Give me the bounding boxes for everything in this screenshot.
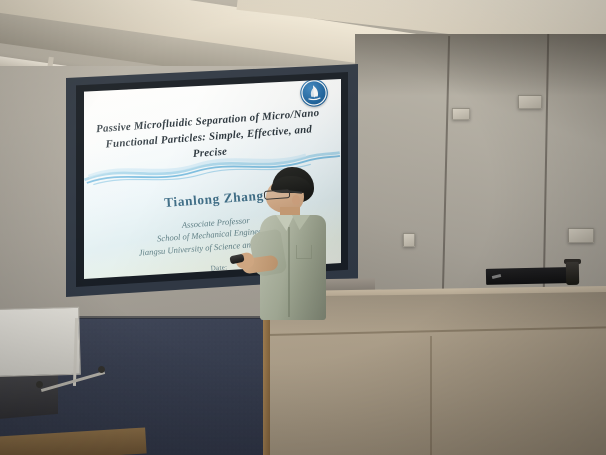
lecture-hall-scene: Passive Microfluidic Separation of Micro… [0,0,606,455]
whiteboard-caster-icon [98,366,105,373]
mobile-whiteboard[interactable] [0,307,81,377]
wall-plate-upper-right [518,95,542,109]
wall-plate-lower-right [568,228,594,243]
shirt-placket [288,227,290,317]
wall-plate-lower-left [403,233,415,247]
wall-right-shading [355,34,606,96]
podium-seam-vertical [430,336,432,455]
presenter [252,167,344,327]
wall-plate-upper-left [452,108,470,120]
presenter-ear [292,195,300,205]
desk-cup [566,262,579,285]
eyeglasses-icon [264,189,291,200]
shirt-pocket [296,245,312,259]
university-sailboat-logo-icon [299,79,329,108]
whiteboard-caster-icon [36,381,43,388]
